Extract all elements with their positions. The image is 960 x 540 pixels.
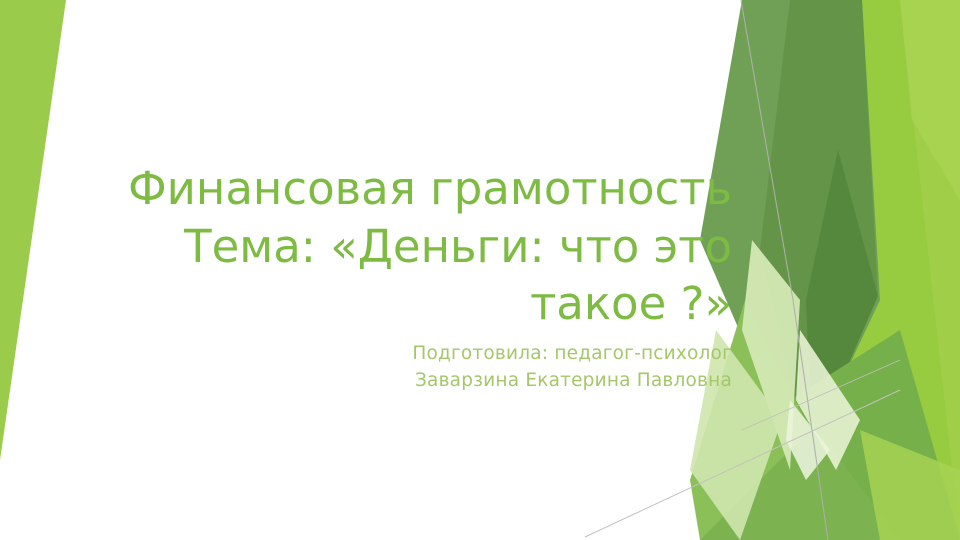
title-text-block: Финансовая грамотность Тема: «Деньги: чт… <box>60 160 732 394</box>
pale-narrow-triangle <box>786 400 830 480</box>
chartreuse-wedge <box>760 0 960 540</box>
darkest-facet <box>806 150 878 448</box>
mid-green-lower-triangle <box>740 330 960 540</box>
hairline-diagonal-bottom <box>585 390 900 537</box>
light-overlay-top-right <box>900 0 960 200</box>
slide-subtitle: Подготовила: педагог-психолог Заварзина … <box>60 341 732 395</box>
mid-green-bottom-slab <box>700 420 900 540</box>
presentation-slide: Финансовая грамотность Тема: «Деньги: чт… <box>0 0 960 540</box>
page-title: Финансовая грамотность Тема: «Деньги: чт… <box>60 160 732 333</box>
pale-facet-upper <box>742 240 800 470</box>
deep-green-facet <box>760 0 878 452</box>
hairline-short-mid <box>742 360 900 430</box>
right-base-bright <box>700 0 960 540</box>
pale-accent-bottom-right <box>860 430 960 540</box>
very-pale-sliver <box>796 330 860 470</box>
hairline-upper-lower <box>793 300 828 540</box>
hairline-upper <box>741 0 793 300</box>
left-wedge-shape <box>0 0 66 460</box>
right-light-band <box>760 0 960 540</box>
